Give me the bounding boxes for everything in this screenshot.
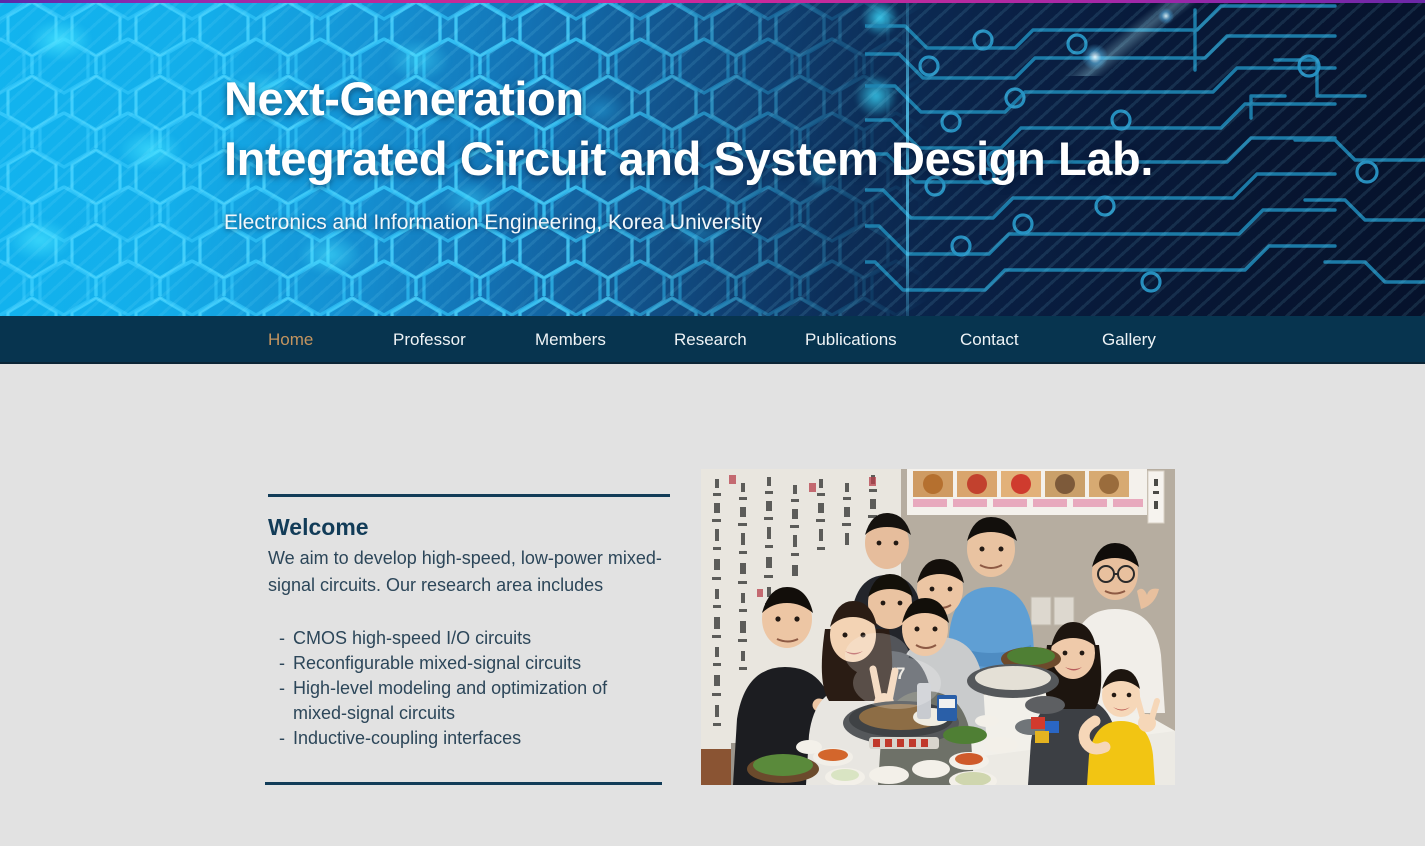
welcome-heading: Welcome bbox=[268, 513, 670, 541]
list-item-label: CMOS high-speed I/O circuits bbox=[293, 628, 531, 648]
nav-item-contact[interactable]: Contact bbox=[960, 330, 1019, 350]
banner-text-block: Next-Generation Integrated Circuit and S… bbox=[224, 0, 1153, 236]
nav-item-publications[interactable]: Publications bbox=[805, 330, 897, 350]
nav-item-gallery[interactable]: Gallery bbox=[1102, 330, 1156, 350]
nav-item-members[interactable]: Members bbox=[535, 330, 606, 350]
banner-subtitle: Electronics and Information Engineering,… bbox=[224, 210, 1153, 236]
bullet-dash: - bbox=[279, 651, 285, 676]
banner-title-line-1: Next-Generation bbox=[224, 72, 1153, 126]
research-area-list: - CMOS high-speed I/O circuits - Reconfi… bbox=[279, 626, 670, 751]
list-item: - Inductive-coupling interfaces bbox=[279, 726, 664, 751]
bullet-dash: - bbox=[279, 626, 285, 651]
site-banner: Next-Generation Integrated Circuit and S… bbox=[0, 0, 1425, 316]
list-item: - Reconfigurable mixed-signal circuits bbox=[279, 651, 664, 676]
nav-item-professor[interactable]: Professor bbox=[393, 330, 466, 350]
list-item-label: Reconfigurable mixed-signal circuits bbox=[293, 653, 581, 673]
banner-title-line-2: Integrated Circuit and System Design Lab… bbox=[224, 132, 1153, 186]
welcome-intro-paragraph: We aim to develop high-speed, low-power … bbox=[268, 545, 666, 599]
nav-item-research[interactable]: Research bbox=[674, 330, 747, 350]
lab-group-photo: 007 bbox=[701, 469, 1175, 785]
bullet-dash: - bbox=[279, 676, 285, 701]
list-item-label: High-level modeling and optimization of … bbox=[293, 678, 607, 723]
bullet-dash: - bbox=[279, 726, 285, 751]
nav-item-home[interactable]: Home bbox=[268, 330, 313, 350]
navigation-items-container: Home Professor Members Research Publicat… bbox=[0, 316, 1425, 362]
welcome-bottom-rule bbox=[265, 782, 662, 785]
list-item-label: Inductive-coupling interfaces bbox=[293, 728, 521, 748]
welcome-top-rule bbox=[268, 494, 670, 497]
top-accent-rule bbox=[0, 0, 1425, 3]
list-item: - High-level modeling and optimization o… bbox=[279, 676, 664, 726]
main-navigation-bar: Home Professor Members Research Publicat… bbox=[0, 316, 1425, 364]
list-item: - CMOS high-speed I/O circuits bbox=[279, 626, 664, 651]
welcome-section: Welcome We aim to develop high-speed, lo… bbox=[265, 494, 670, 751]
main-content-area: Welcome We aim to develop high-speed, lo… bbox=[0, 364, 1425, 844]
